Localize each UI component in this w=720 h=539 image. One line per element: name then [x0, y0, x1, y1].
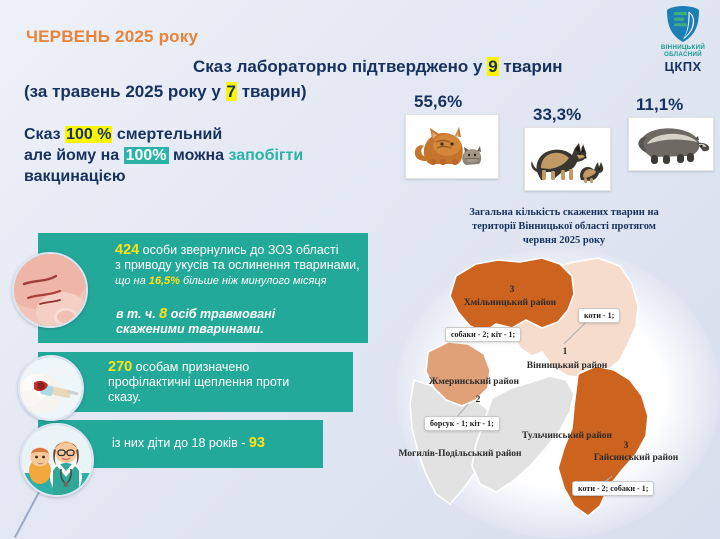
- consultations-text-b: з приводу укусів та ослинення тваринами,: [115, 258, 360, 272]
- cats-photo: [405, 114, 499, 179]
- vaccinations-text: 270 особам призначено профілактичні щепл…: [108, 360, 348, 405]
- badger-percent: 11,1%: [636, 95, 683, 115]
- district-count-vinnytskyi: 1: [563, 347, 568, 357]
- district-count-zhmerynskyi: 2: [476, 395, 481, 405]
- callout-khmilnytskyi: собаки - 2; кіт - 1;: [445, 327, 521, 342]
- shield-icon: [663, 4, 703, 44]
- children-label: із них діти до 18 років -: [112, 436, 249, 450]
- wound-illustration-icon: [14, 254, 86, 326]
- lethality-l2-a: але йому на: [24, 147, 124, 164]
- vaccinations-text-a: особам призначено: [132, 360, 249, 374]
- injured-line-2: скаженими тваринами.: [116, 322, 264, 336]
- consultations-text: 424 особи звернулись до ЗОЗ області з пр…: [115, 243, 380, 289]
- map-title-line-2: території Вінницької області протягом: [472, 221, 656, 232]
- cats-percent: 55,6%: [414, 92, 462, 112]
- district-label-zhmerynskyi: Жмеринський район: [429, 376, 520, 387]
- logo-line-2: ОБЛАСНИЙ: [652, 51, 714, 58]
- lethality-line-1: Сказ 100 % смертельний: [24, 124, 303, 145]
- callout-zhmerynskyi: борсук - 1; кіт - 1;: [424, 416, 500, 431]
- district-shape-khmilnytskyi: [450, 258, 574, 332]
- district-label-mohyliv-podilskyi: Могилів-Подільський район: [398, 448, 522, 459]
- callout-vinnytskyi: коти - 1;: [578, 308, 620, 323]
- lethality-l1-a: Сказ: [24, 126, 65, 143]
- map-title-line-3: червня 2025 року: [523, 235, 605, 246]
- confirmed-prefix: Сказ лабораторно підтверджено у: [193, 57, 487, 76]
- vaccination-syringe-photo: [18, 355, 84, 421]
- map-svg: Хмільницький район 3 Вінницький район 1 …: [392, 248, 720, 539]
- vaccinations-text-b: профілактичні щеплення проти: [108, 375, 289, 389]
- district-label-vinnytskyi: Вінницький район: [527, 360, 608, 371]
- lethality-line-3: вакцинацією: [24, 166, 303, 187]
- district-label-khmilnytskyi: Хмільницький район: [464, 297, 557, 308]
- bite-wound-photo: [12, 252, 88, 328]
- consultations-text-a: особи звернулись до ЗОЗ області: [139, 243, 338, 257]
- vaccinations-text-c: сказу.: [108, 390, 141, 404]
- previous-prefix: (за травень 2025 року у: [24, 82, 226, 101]
- logo-line-3: ЦКПХ: [652, 60, 714, 74]
- vinnytsia-oblast-map: Хмільницький район 3 Вінницький район 1 …: [392, 248, 720, 539]
- doctor-and-child-photo: [20, 423, 94, 497]
- doctor-child-illustration-icon: [22, 425, 92, 495]
- map-title: Загальна кількість скажених тварин на те…: [430, 206, 698, 248]
- lethality-line-2: але йому на 100% можна запобігти: [24, 145, 303, 166]
- previous-month-line: (за травень 2025 року у 7 тварин): [24, 82, 307, 102]
- dog-illustration-icon: [525, 128, 610, 190]
- consultations-count: 424: [115, 242, 139, 258]
- confirmed-suffix: тварин: [499, 57, 563, 76]
- previous-count: 7: [226, 82, 237, 101]
- children-text: із них діти до 18 років - 93: [112, 436, 322, 451]
- confirmed-headline: Сказ лабораторно підтверджено у 9 тварин: [193, 57, 563, 77]
- lethality-l2-b: можна: [169, 147, 229, 164]
- injured-pre: в т. ч.: [116, 307, 159, 321]
- previous-suffix: тварин): [237, 82, 307, 101]
- injured-by-rabid-text: в т. ч. 8 осіб травмовані скаженими твар…: [116, 307, 366, 337]
- dogs-percent: 33,3%: [533, 105, 581, 125]
- district-count-haisynskyi: 3: [624, 441, 629, 451]
- confirmed-count: 9: [487, 57, 498, 76]
- prevention-word: запобігти: [228, 147, 303, 164]
- badger-illustration-icon: [629, 118, 713, 170]
- district-label-haisynskyi: Гайсинський район: [594, 452, 679, 463]
- syringe-illustration-icon: [20, 357, 82, 419]
- district-label-tulchynskyi: Тульчинський район: [522, 430, 613, 441]
- map-title-line-1: Загальна кількість скажених тварин на: [469, 207, 659, 218]
- lethality-100-percent-teal: 100%: [124, 147, 169, 164]
- lethality-l1-b: смертельний: [112, 126, 222, 143]
- consultations-delta-post: більше ніж минулого місяця: [180, 275, 327, 287]
- callout-haisynskyi: коти - 2; собаки - 1;: [572, 481, 654, 496]
- lethality-statement: Сказ 100 % смертельний але йому на 100% …: [24, 124, 303, 187]
- month-title: ЧЕРВЕНЬ 2025 року: [26, 27, 198, 47]
- vaccinations-count: 270: [108, 359, 132, 375]
- cat-illustration-icon: [406, 115, 498, 178]
- injured-post: осіб травмовані: [167, 307, 275, 321]
- infographic-canvas: ВІННИЦЬКИЙ ОБЛАСНИЙ ЦКПХ ЧЕРВЕНЬ 2025 ро…: [0, 0, 720, 539]
- consultations-delta-pct: 16,5%: [149, 275, 180, 287]
- badger-photo: [628, 117, 714, 171]
- children-count: 93: [249, 435, 265, 451]
- consultations-delta-pre: що на: [115, 275, 149, 287]
- organization-logo: ВІННИЦЬКИЙ ОБЛАСНИЙ ЦКПХ: [652, 4, 714, 74]
- district-count-khmilnytskyi: 3: [510, 285, 515, 295]
- dogs-photo: [524, 127, 611, 191]
- leader-line-doctor: [14, 491, 40, 538]
- lethality-100-percent-yellow: 100 %: [65, 126, 112, 143]
